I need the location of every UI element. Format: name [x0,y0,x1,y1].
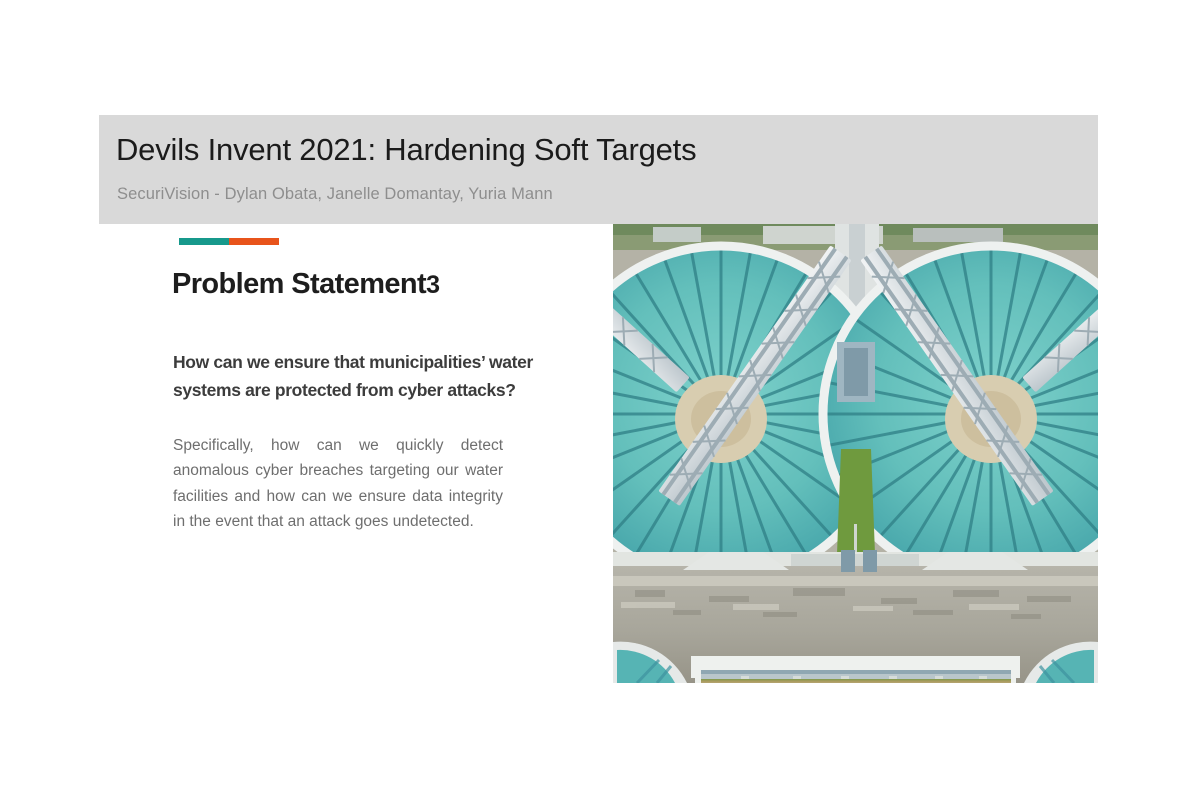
problem-question: How can we ensure that municipalities’ w… [173,348,573,405]
section-heading-number: 3 [426,271,440,299]
page-title: Devils Invent 2021: Hardening Soft Targe… [116,132,696,168]
section-heading-label: Problem Statement [172,268,426,300]
slide-header-band: Devils Invent 2021: Hardening Soft Targe… [99,115,1098,224]
page-subtitle: SecuriVision - Dylan Obata, Janelle Doma… [117,185,553,204]
problem-detail: Specifically, how can we quickly detect … [173,433,503,535]
accent-bar-teal-segment [179,238,229,245]
presentation-slide: Devils Invent 2021: Hardening Soft Targe… [0,0,1200,800]
water-treatment-plant-photo [613,224,1098,683]
accent-bar [179,238,279,245]
water-treatment-plant-illustration [613,224,1098,683]
content-column: Problem Statement3 How can we ensure tha… [172,238,582,550]
section-heading: Problem Statement3 [172,269,582,301]
accent-bar-orange-segment [229,238,279,245]
